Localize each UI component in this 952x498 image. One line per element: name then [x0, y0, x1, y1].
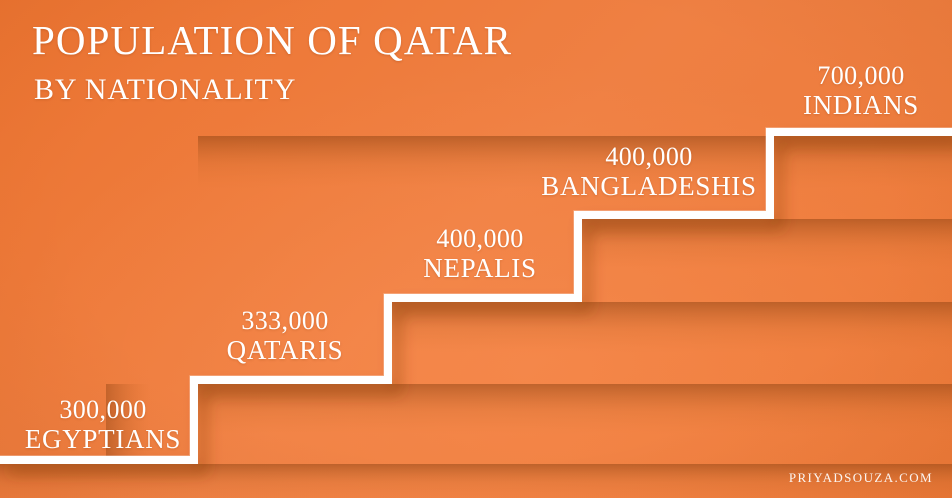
step-value-indians: 700,000 [803, 62, 919, 89]
step-label-egyptians: 300,000 EGYPTIANS [25, 396, 181, 453]
step-value-egyptians: 300,000 [25, 396, 181, 423]
step-name-bangladeshis: BANGLADESHIS [541, 172, 756, 200]
step-label-indians: 700,000 INDIANS [803, 62, 919, 119]
title-block: POPULATION OF QATAR BY NATIONALITY [32, 16, 512, 107]
page-title: POPULATION OF QATAR [32, 16, 512, 64]
step-label-qataris: 333,000 QATARIS [227, 307, 344, 364]
step-name-qataris: QATARIS [227, 336, 344, 364]
step-name-nepalis: NEPALIS [423, 254, 536, 282]
watermark: PRIYADSOUZA.COM [789, 470, 933, 486]
step-label-bangladeshis: 400,000 BANGLADESHIS [541, 143, 756, 200]
step-label-nepalis: 400,000 NEPALIS [423, 225, 536, 282]
infographic-canvas: POPULATION OF QATAR BY NATIONALITY 300,0… [0, 0, 952, 498]
step-value-bangladeshis: 400,000 [541, 143, 756, 170]
step-name-egyptians: EGYPTIANS [25, 425, 181, 453]
page-subtitle: BY NATIONALITY [34, 73, 512, 107]
step-value-qataris: 333,000 [227, 307, 344, 334]
step-name-indians: INDIANS [803, 91, 919, 119]
step-value-nepalis: 400,000 [423, 225, 536, 252]
